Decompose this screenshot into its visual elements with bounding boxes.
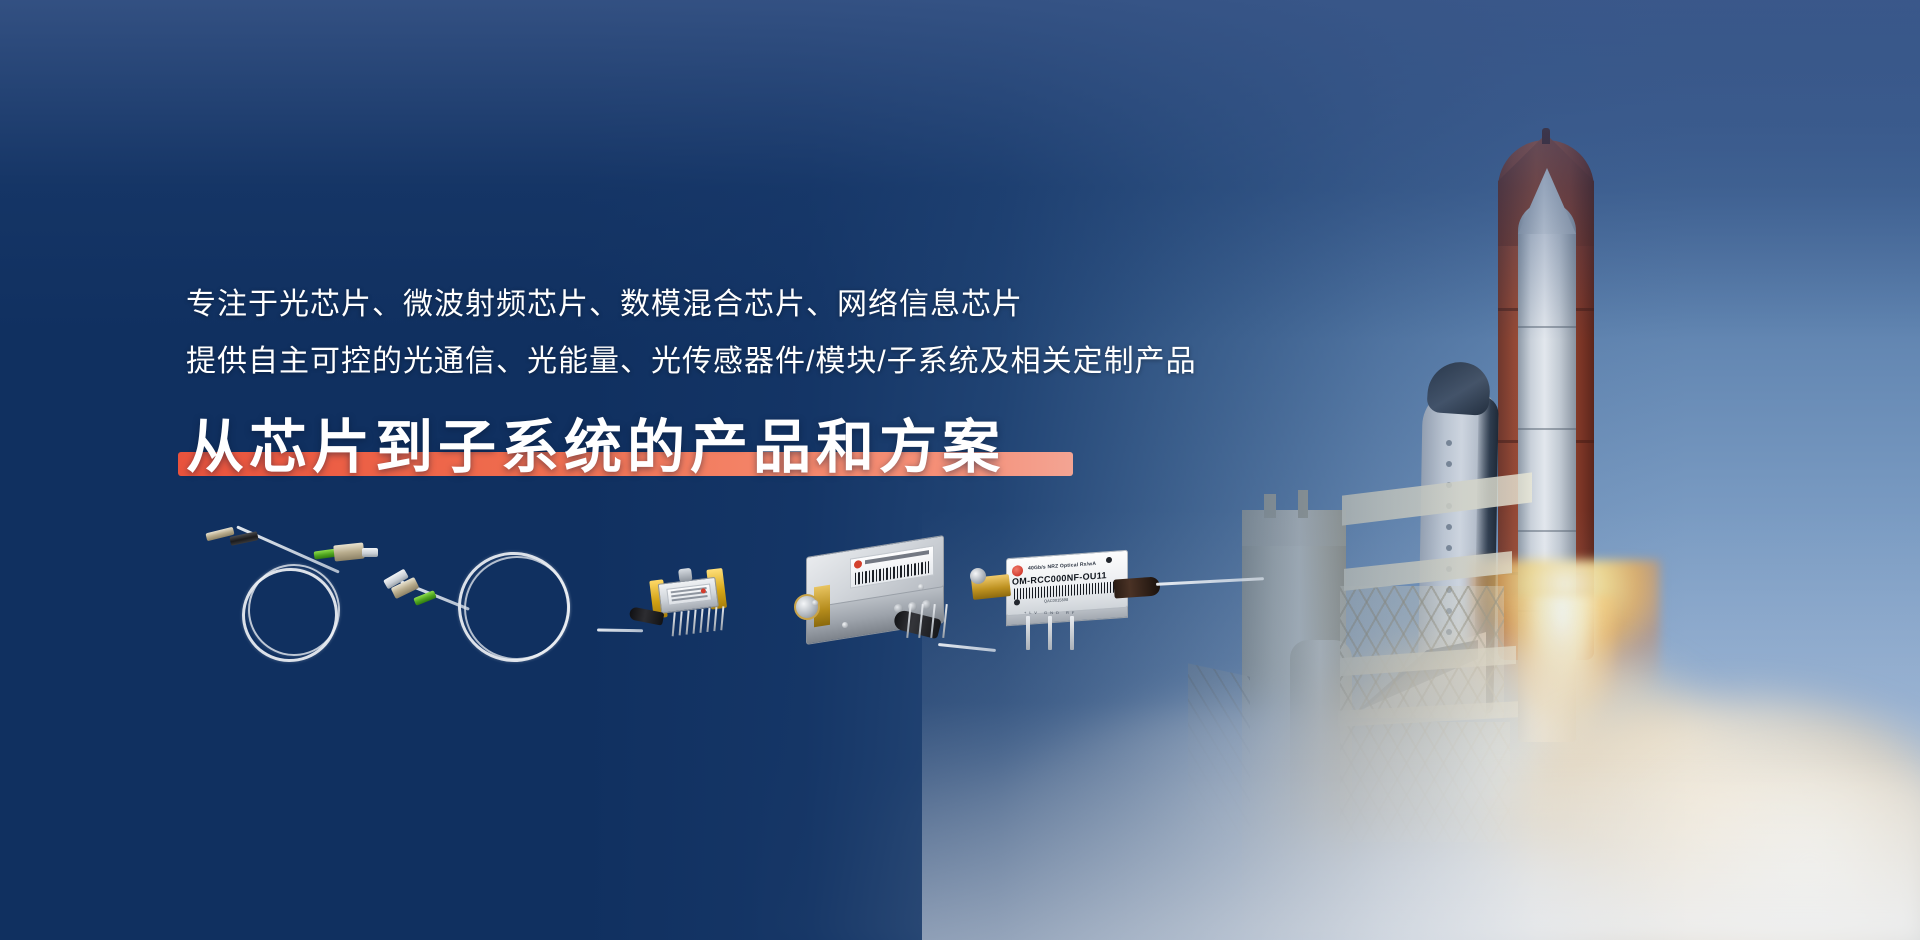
receiver-screw: [1106, 557, 1112, 563]
subtitle-line-2: 提供自主可控的光通信、光能量、光传感器件/模块/子系统及相关定制产品: [186, 339, 1386, 386]
product-optical-receiver: 40Gb/s NRZ Optical Rx/wA OM-RCC000NF-OU1…: [988, 550, 1164, 650]
receiver-pin-row: [1026, 616, 1090, 650]
rf-logo-dot: [854, 560, 862, 569]
butterfly-fiber-lead: [597, 628, 643, 632]
headline-wrapper: 从芯片到子系统的产品和方案: [186, 416, 1005, 480]
butterfly-thermistor-cap: [678, 568, 692, 582]
product-butterfly-laser: [648, 562, 734, 641]
receiver-brand-logo: [1012, 565, 1023, 577]
rf-pin-row: [908, 604, 954, 638]
hero-banner: 专注于光芯片、微波射频芯片、数模混合芯片、网络信息芯片 提供自主可控的光通信、光…: [0, 0, 1920, 940]
fiber-connector-green: [413, 590, 436, 606]
receiver-fiber-boot: [1113, 576, 1160, 598]
fiber-connector-tip: [362, 548, 378, 557]
butterfly-pin-row: [671, 606, 728, 636]
rf-sma-connector: [794, 594, 820, 620]
product-showcase-strip: 40Gb/s NRZ Optical Rx/wA OM-RCC000NF-OU1…: [186, 524, 1246, 674]
receiver-serial-number: QAC0015598: [1044, 597, 1068, 604]
receiver-label-caption: 40Gb/s NRZ Optical Rx/wA: [1028, 561, 1096, 572]
receiver-pin-labels: +LV GND RF: [1024, 610, 1077, 615]
receiver-screw: [1014, 599, 1020, 605]
fiber-connector-body: [333, 542, 365, 561]
fiber-coil: [454, 546, 579, 670]
page-title: 从芯片到子系统的产品和方案: [186, 416, 1005, 480]
receiver-sma-connector: [970, 568, 986, 584]
subtitle-line-1: 专注于光芯片、微波射频芯片、数模混合芯片、网络信息芯片: [186, 282, 1386, 329]
product-rf-module: [798, 546, 950, 650]
hero-copy-block: 专注于光芯片、微波射频芯片、数模混合芯片、网络信息芯片 提供自主可控的光通信、光…: [186, 282, 1386, 479]
receiver-label: 40Gb/s NRZ Optical Rx/wA OM-RCC000NF-OU1…: [1010, 554, 1122, 610]
